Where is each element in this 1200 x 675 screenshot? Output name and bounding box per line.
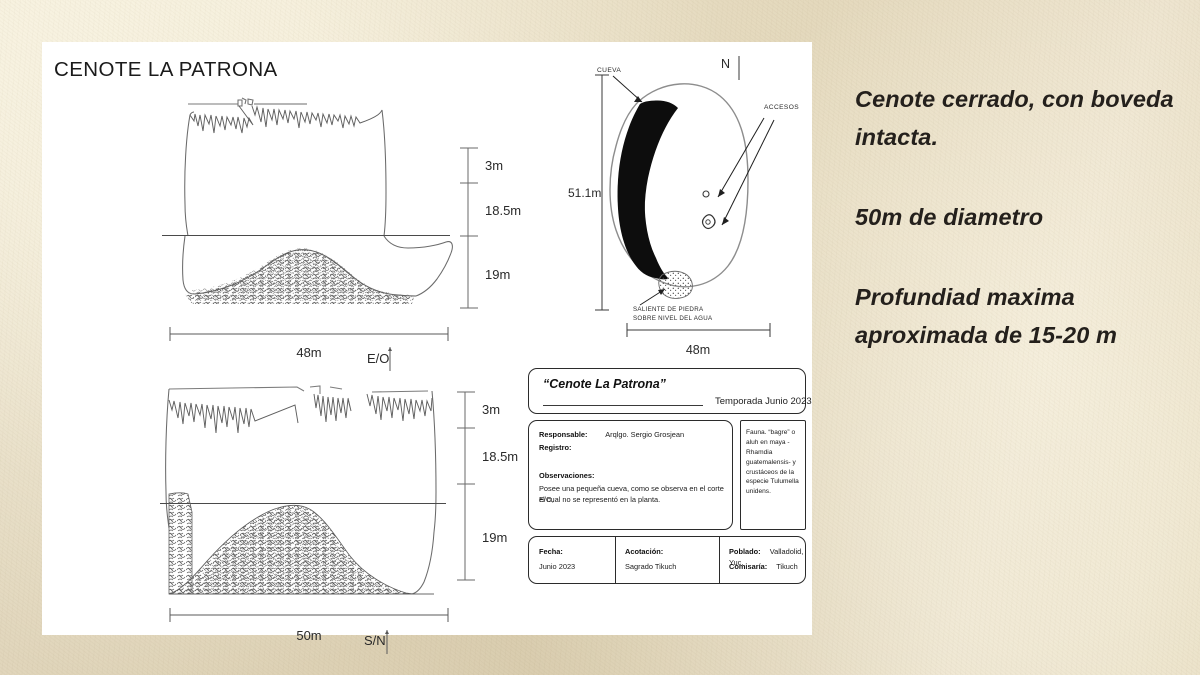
upper-width-dimension: [170, 327, 448, 341]
note-diameter: 50m de diametro: [855, 198, 1185, 236]
upper-ladder-3m: 3m: [485, 158, 503, 173]
plan-sheet: CENOTE LA PATRONA: [42, 42, 812, 635]
acotacion-value: Sagrado Tikuch: [625, 562, 676, 571]
acotacion-label: Acotación:: [625, 547, 663, 556]
lower-orientation-label: S/N: [364, 633, 386, 648]
fecha-value: Junio 2023: [539, 562, 575, 571]
plan-ledge-leader: [640, 289, 665, 305]
note-closed-cenote: Cenote cerrado, con boveda intacta.: [855, 80, 1185, 156]
lower-depth-ladder: [457, 392, 475, 580]
title-block-fauna: Fauna. “bagre” o aluh en maya - Rhamdia …: [740, 420, 806, 530]
plan-width-label: 48m: [686, 343, 710, 357]
lower-ladder-3m: 3m: [482, 402, 500, 417]
observaciones-line2: el cual no se representó en la planta.: [539, 495, 660, 504]
title-block-main: Responsable: Arqlgo. Sergio Grosjean Reg…: [528, 420, 733, 530]
plan-ledge-label-line1: SALIENTE DE PIEDRA: [633, 306, 704, 313]
comisaria-label: Comisaría:: [729, 562, 767, 571]
upper-ladder-18m: 18.5m: [485, 203, 521, 218]
plan-cave-leader: [613, 76, 642, 102]
annotation-notes: Cenote cerrado, con boveda intacta. 50m …: [855, 80, 1185, 354]
plan-rock-ledge: [659, 271, 693, 298]
fauna-text: Fauna. “bagre” o aluh en maya - Rhamdia …: [746, 428, 803, 497]
title-block-rule: [543, 405, 703, 406]
note-depth: Profundiad maxima aproximada de 15-20 m: [855, 278, 1185, 354]
plan-height-label: 51.1m: [568, 186, 601, 200]
lower-debris-mound: [169, 493, 414, 594]
title-block-footer: Fecha: Junio 2023 Acotación: Sagrado Tik…: [528, 536, 806, 584]
comisaria-value: Tikuch: [776, 562, 798, 571]
north-label: N: [721, 57, 730, 71]
lower-ladder-18m: 18.5m: [482, 449, 518, 464]
observaciones-label: Observaciones:: [539, 471, 594, 480]
upper-orientation-label: E/O: [367, 351, 389, 366]
title-block-season: Temporada Junio 2023: [715, 396, 812, 407]
title-block-header: “Cenote La Patrona” Temporada Junio 2023: [528, 368, 806, 414]
responsable-value: Arqlgo. Sergio Grosjean: [605, 430, 684, 439]
title-block: “Cenote La Patrona” Temporada Junio 2023…: [528, 368, 806, 584]
upper-debris-mound: [185, 248, 414, 304]
plan-cave-label: CUEVA: [597, 67, 621, 74]
lower-ladder-19m: 19m: [482, 530, 507, 545]
upper-width-label: 48m: [296, 345, 321, 360]
registro-label: Registro:: [539, 443, 571, 452]
plan-view: CUEVA ACCESOS SALIENTE DE PIEDRA SOBRE N…: [568, 56, 799, 357]
footer-divider-1: [615, 537, 616, 583]
upper-ladder-19m: 19m: [485, 267, 510, 282]
title-block-name: “Cenote La Patrona”: [543, 377, 666, 391]
lower-width-label: 50m: [296, 628, 321, 643]
poblado-label: Poblado:: [729, 547, 761, 556]
plan-access-label: ACCESOS: [764, 104, 799, 111]
footer-divider-2: [719, 537, 720, 583]
plan-width-dimension: [627, 323, 770, 337]
upper-depth-ladder: [460, 148, 478, 308]
fecha-label: Fecha:: [539, 547, 563, 556]
plan-ledge-label-line2: SOBRE NIVEL DEL AGUA: [633, 315, 713, 322]
lower-width-dimension: [170, 608, 448, 622]
responsable-label: Responsable:: [539, 430, 587, 439]
